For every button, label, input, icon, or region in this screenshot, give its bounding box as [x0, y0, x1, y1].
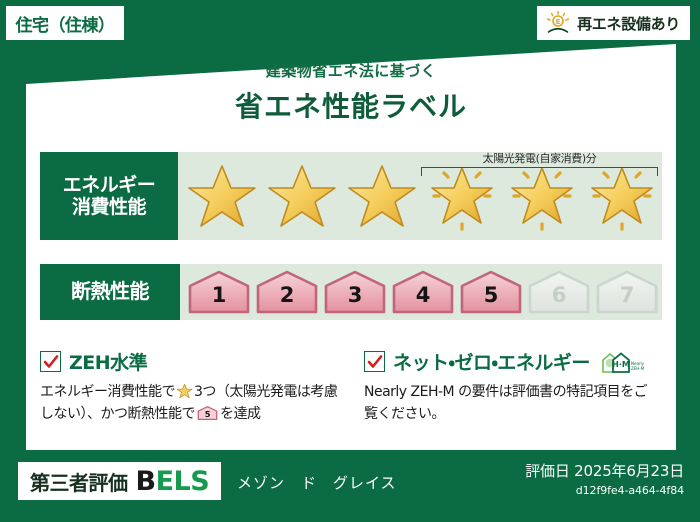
star-1	[182, 157, 262, 235]
bels-certification-chip: 第三者評価 BELS	[18, 462, 221, 500]
inline-star-icon	[176, 383, 193, 399]
solar-sun-icon: E	[545, 10, 571, 36]
bels-letter-b: B	[136, 466, 156, 497]
insulation-level-6: 6	[526, 269, 592, 315]
star-6-solar	[582, 157, 662, 235]
star-4-solar	[422, 157, 502, 235]
svg-text:ZEH-M: ZEH-M	[631, 366, 644, 371]
energy-label-line2: 消費性能	[72, 196, 146, 218]
insulation-level-7: 7	[594, 269, 660, 315]
insulation-level-3-value: 3	[348, 283, 363, 307]
net-zero-checkbox[interactable]	[364, 351, 385, 372]
insulation-level-3: 3	[322, 269, 388, 315]
renewable-equipment-badge: E 再エネ設備あり	[537, 6, 690, 40]
insulation-row-label: 断熱性能	[40, 264, 180, 320]
zeh-standard-checkbox[interactable]	[40, 351, 61, 372]
energy-label-line1: エネルギー	[63, 174, 156, 196]
net-zero-description: Nearly ZEH-M の要件は評価書の特記項目をご覧ください。	[364, 382, 654, 425]
svg-text:E: E	[556, 18, 561, 26]
zeh-desc-part1: エネルギー消費性能で	[40, 384, 175, 400]
energy-star-rating	[178, 157, 662, 235]
evaluation-info: 評価日 2025年6月23日 d12f9fe4-a464-4f84	[525, 460, 684, 497]
label-footer: 第三者評価 BELS メゾン ド グレイス 評価日 2025年6月23日 d12…	[0, 450, 700, 522]
net-zero-title: ネット・ゼロ・エネルギー	[393, 348, 590, 375]
insulation-level-2: 2	[254, 269, 320, 315]
renewable-badge-label: 再エネ設備あり	[577, 13, 680, 34]
criteria-section: ZEH水準 エネルギー消費性能で3つ（太陽光発電は考慮しない）、かつ断熱性能で5…	[40, 348, 668, 425]
bels-wordmark: BELS	[136, 466, 210, 497]
insulation-level-1-value: 1	[212, 283, 227, 307]
building-type-tag: 住宅（住棟）	[6, 6, 124, 40]
insulation-level-6-value: 6	[552, 283, 567, 307]
insulation-level-4: 4	[390, 269, 456, 315]
insulation-level-7-value: 7	[620, 283, 635, 307]
insulation-performance-row: 断熱性能 1 2 3 4	[40, 264, 662, 320]
insulation-level-5: 5	[458, 269, 524, 315]
insulation-level-4-value: 4	[416, 283, 431, 307]
zeh-standard-description: エネルギー消費性能で3つ（太陽光発電は考慮しない）、かつ断熱性能で5を達成	[40, 382, 340, 425]
label-subtitle: 建築物省エネ法に基づく	[26, 60, 676, 81]
evaluation-id: d12f9fe4-a464-4f84	[525, 484, 684, 497]
energy-performance-label: 住宅（住棟） E 再エネ設備あり 建築物省エネ法に基づく 省エネ性能ラベル	[0, 0, 700, 522]
zeh-standard-title: ZEH水準	[69, 348, 147, 375]
insulation-level-5-value: 5	[484, 283, 499, 307]
bels-jp-label: 第三者評価	[30, 467, 128, 496]
inline-house-icon: 5	[197, 405, 218, 421]
energy-row-body: 太陽光発電(自家消費)分	[178, 152, 662, 240]
zeh-standard-header: ZEH水準	[40, 348, 340, 375]
star-3	[342, 157, 422, 235]
svg-text:5: 5	[205, 409, 211, 419]
star-5-solar	[502, 157, 582, 235]
svg-text:H·M: H·M	[612, 360, 630, 369]
zeh-desc-part3: を達成	[220, 406, 261, 422]
energy-performance-row: エネルギー 消費性能	[40, 152, 662, 240]
label-heading: 建築物省エネ法に基づく 省エネ性能ラベル	[26, 60, 676, 125]
label-title: 省エネ性能ラベル	[26, 85, 676, 125]
insulation-level-1: 1	[186, 269, 252, 315]
criteria-net-zero-energy: ネット・ゼロ・エネルギー H·M Nearly ZEH-M Nearly ZEH…	[354, 348, 668, 425]
bels-letters-els: ELS	[156, 466, 210, 497]
energy-row-label: エネルギー 消費性能	[40, 152, 178, 240]
insulation-level-2-value: 2	[280, 283, 295, 307]
evaluation-date: 評価日 2025年6月23日	[525, 460, 684, 481]
zeh-m-logo-icon: H·M Nearly ZEH-M	[598, 350, 644, 374]
insulation-row-body: 1 2 3 4 5	[180, 264, 662, 320]
criteria-zeh-standard: ZEH水準 エネルギー消費性能で3つ（太陽光発電は考慮しない）、かつ断熱性能で5…	[40, 348, 354, 425]
property-name: メゾン ド グレイス	[237, 472, 397, 493]
star-2	[262, 157, 342, 235]
zeh-desc-star-count: 3つ（太陽光発電	[194, 384, 297, 400]
net-zero-header: ネット・ゼロ・エネルギー H·M Nearly ZEH-M	[364, 348, 654, 375]
insulation-level-scale: 1 2 3 4 5	[180, 269, 662, 315]
